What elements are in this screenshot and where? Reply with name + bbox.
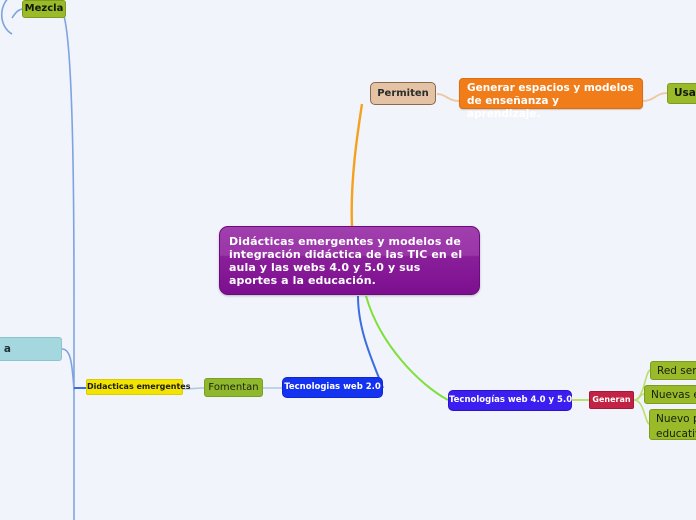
node-generar-espacios[interactable]: Generar espacios y modelos de enseñanza …	[459, 78, 643, 109]
node-generan[interactable]: Generan	[589, 391, 634, 409]
connector-generan-leaf2	[634, 394, 644, 400]
node-mezcla[interactable]: Mezcla	[22, 0, 66, 18]
node-leaf-red-semantica[interactable]: Red sem	[650, 361, 696, 380]
node-y-a[interactable]: y a	[0, 337, 62, 361]
node-usan[interactable]: Usan	[667, 83, 696, 104]
node-generan-label: Generan	[592, 395, 630, 404]
node-didacticas-emergentes-label: Didacticas emergentes	[87, 382, 191, 391]
node-usan-label: Usan	[674, 87, 696, 99]
node-leaf-nuevas[interactable]: Nuevas e	[644, 385, 696, 404]
node-y-a-label: y a	[0, 343, 11, 355]
connector-root-permiten	[352, 104, 362, 226]
node-permiten[interactable]: Permiten	[370, 82, 436, 105]
connector-permiten-generar	[437, 94, 459, 101]
node-mezcla-label: Mezcla	[25, 3, 64, 14]
node-tecnologias-web-4-0-5-0-label: Tecnologías web 4.0 y 5.0	[449, 395, 572, 405]
node-didacticas-emergentes[interactable]: Didacticas emergentes	[86, 379, 183, 395]
node-tecnologias-web-2-0[interactable]: Tecnologias web 2.0	[282, 377, 383, 398]
connector-generar-usan	[643, 93, 667, 101]
node-permiten-label: Permiten	[377, 88, 429, 99]
node-leaf-red-semantica-label: Red sem	[657, 365, 696, 377]
root-node[interactable]: Didácticas emergentes y modelos de integ…	[219, 226, 480, 295]
connector-left-spine	[62, 10, 74, 520]
node-tecnologias-web-2-0-label: Tecnologias web 2.0	[284, 382, 381, 392]
connector-top-left-arc	[2, 0, 14, 34]
node-generar-espacios-label: Generar espacios y modelos de enseñanza …	[467, 82, 634, 120]
node-fomentan-label: Fomentan	[208, 382, 258, 393]
connector-root-web20	[358, 296, 383, 388]
node-leaf-nuevas-label: Nuevas e	[651, 389, 696, 401]
connector-ya-spine	[62, 349, 74, 390]
node-leaf-nuevo-paradigma-label: Nuevo p educativ	[656, 413, 696, 440]
node-fomentan[interactable]: Fomentan	[204, 378, 263, 397]
node-tecnologias-web-4-0-5-0[interactable]: Tecnologías web 4.0 y 5.0	[448, 390, 572, 411]
connector-spine-mezcla	[12, 9, 22, 18]
node-leaf-nuevo-paradigma[interactable]: Nuevo p educativ	[649, 409, 696, 440]
root-node-label: Didácticas emergentes y modelos de integ…	[229, 235, 462, 287]
mindmap-canvas[interactable]: Didácticas emergentes y modelos de integ…	[0, 0, 696, 520]
